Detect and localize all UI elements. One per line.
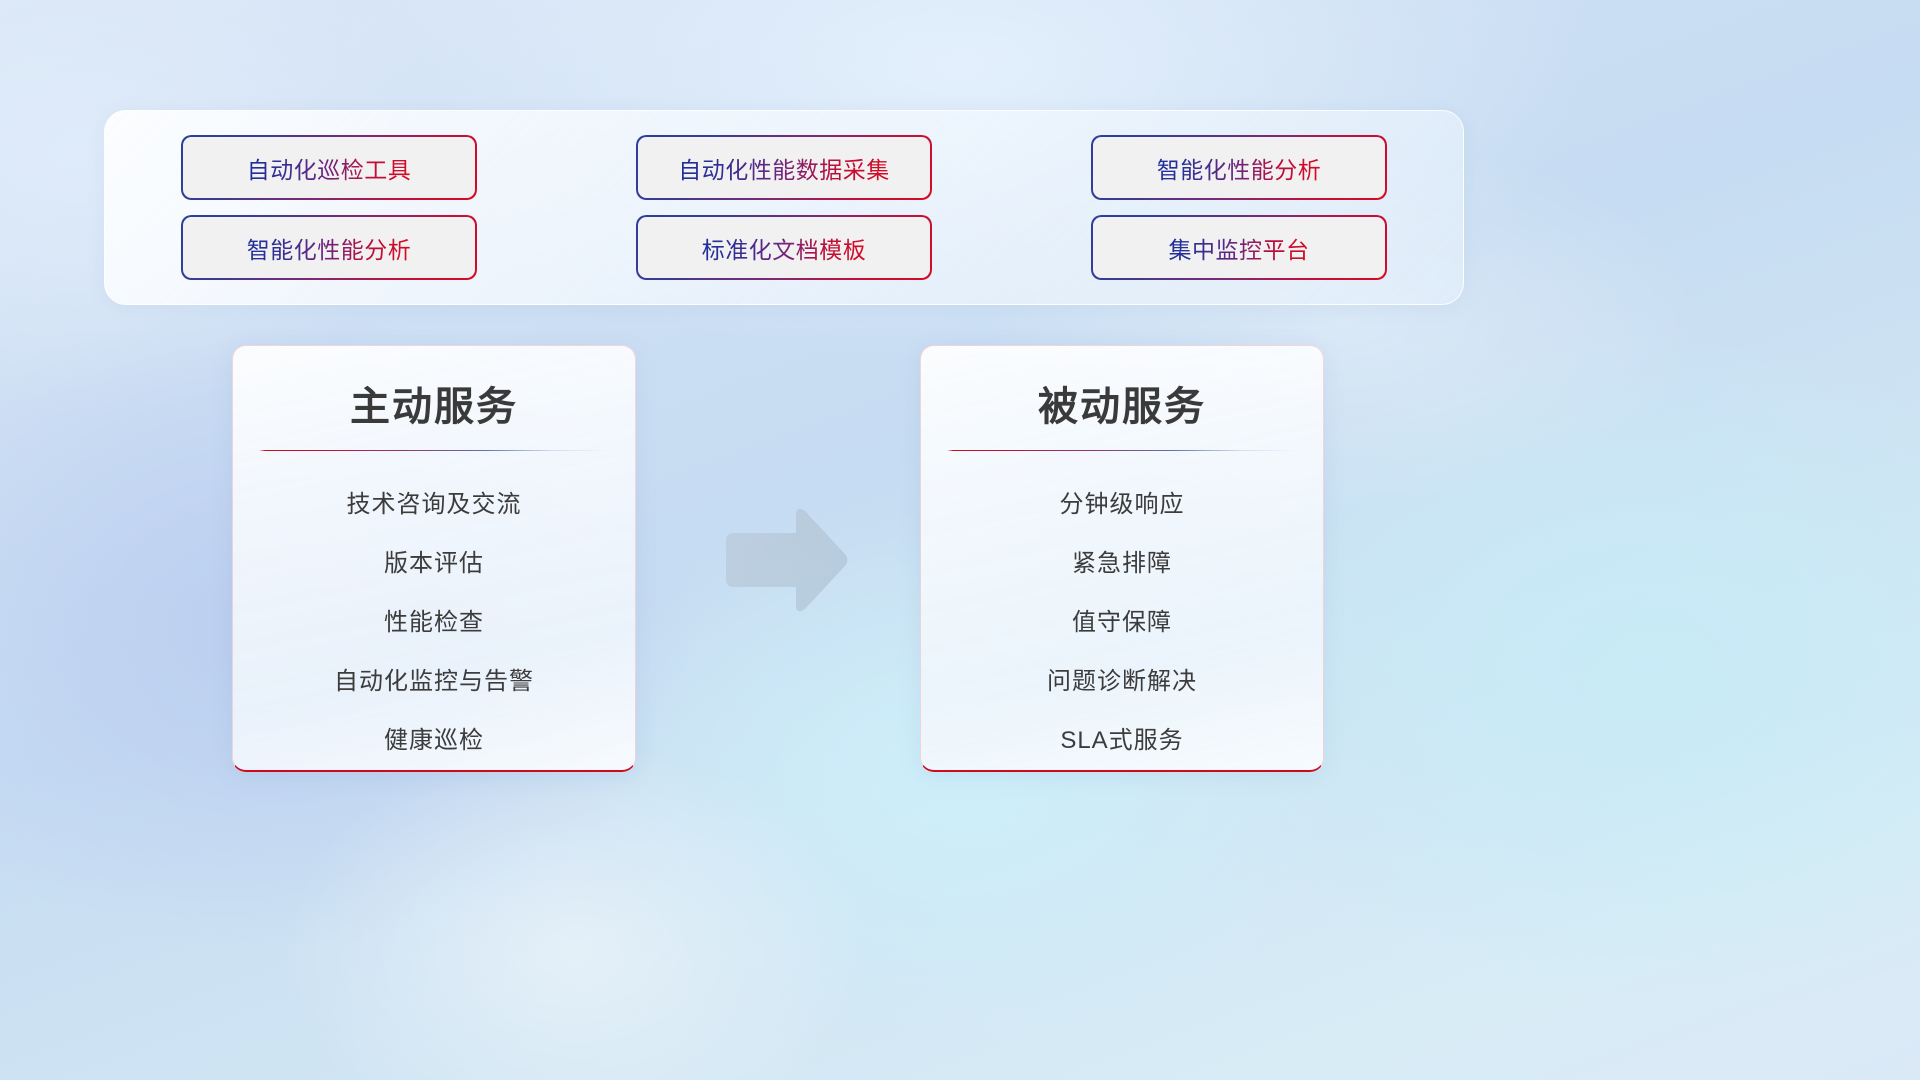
- card-item-list: 技术咨询及交流 版本评估 性能检查 自动化监控与告警 健康巡检: [233, 475, 635, 770]
- list-item[interactable]: 自动化监控与告警: [334, 652, 534, 711]
- capability-chip-label: 自动化性能数据采集: [678, 151, 890, 185]
- list-item[interactable]: SLA式服务: [1060, 711, 1183, 770]
- list-item[interactable]: 紧急排障: [1072, 534, 1172, 593]
- list-item[interactable]: 值守保障: [1072, 593, 1172, 652]
- capability-chip[interactable]: 自动化性能数据采集: [638, 137, 930, 199]
- arrow-right-icon: [718, 505, 850, 615]
- card-divider: [947, 450, 1297, 451]
- list-item[interactable]: 版本评估: [384, 534, 484, 593]
- list-item[interactable]: 问题诊断解决: [1047, 652, 1197, 711]
- list-item[interactable]: 健康巡检: [384, 711, 484, 770]
- capability-chip[interactable]: 集中监控平台: [1093, 217, 1385, 279]
- capability-chip-label: 标准化文档模板: [702, 231, 867, 265]
- card-item-list: 分钟级响应 紧急排障 值守保障 问题诊断解决 SLA式服务: [921, 475, 1323, 770]
- card-title: 主动服务: [350, 374, 518, 432]
- list-item[interactable]: 性能检查: [384, 593, 484, 652]
- capability-chip[interactable]: 智能化性能分析: [1093, 137, 1385, 199]
- card-title: 被动服务: [1038, 374, 1206, 432]
- service-card-proactive[interactable]: 主动服务 技术咨询及交流 版本评估 性能检查 自动化监控与告警 健康巡检: [232, 345, 636, 772]
- capability-chip[interactable]: 自动化巡检工具: [183, 137, 475, 199]
- capability-chip[interactable]: 智能化性能分析: [183, 217, 475, 279]
- list-item[interactable]: 技术咨询及交流: [347, 475, 522, 534]
- capabilities-panel: 自动化巡检工具 自动化性能数据采集 智能化性能分析 智能化性能分析 标准化文档模…: [104, 110, 1464, 305]
- capability-chip-label: 智能化性能分析: [247, 231, 412, 265]
- capability-chip-label: 自动化巡检工具: [247, 151, 412, 185]
- capability-chip-row-1: 自动化巡检工具 自动化性能数据采集 智能化性能分析: [183, 137, 1385, 199]
- capability-chip-row-2: 智能化性能分析 标准化文档模板 集中监控平台: [183, 217, 1385, 279]
- capability-chip-label: 智能化性能分析: [1157, 151, 1322, 185]
- list-item[interactable]: 分钟级响应: [1060, 475, 1185, 534]
- service-card-reactive[interactable]: 被动服务 分钟级响应 紧急排障 值守保障 问题诊断解决 SLA式服务: [920, 345, 1324, 772]
- capability-chip-label: 集中监控平台: [1169, 231, 1310, 265]
- card-divider: [259, 450, 609, 451]
- capability-chip[interactable]: 标准化文档模板: [638, 217, 930, 279]
